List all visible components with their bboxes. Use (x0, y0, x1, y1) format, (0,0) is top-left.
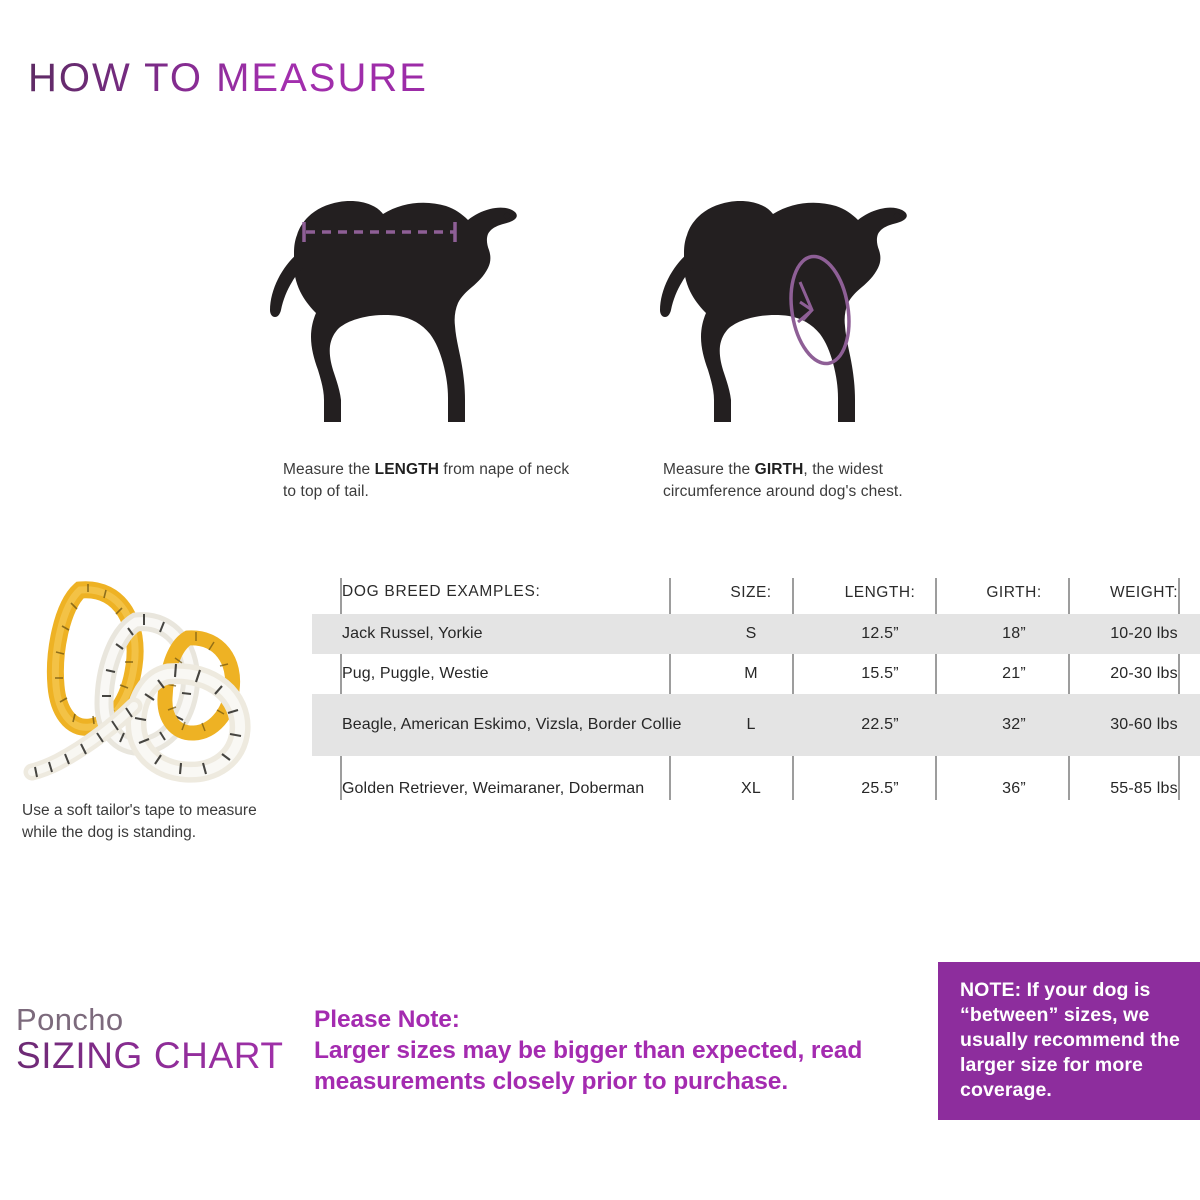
please-note-title: Please Note: (314, 1004, 914, 1035)
dog-silhouette-length-icon (250, 190, 570, 440)
please-note-body: Larger sizes may be bigger than expected… (314, 1035, 914, 1097)
please-note-block: Please Note: Larger sizes may be bigger … (314, 1004, 914, 1097)
row-size: XL (692, 756, 810, 822)
length-caption-keyword: LENGTH (375, 461, 439, 478)
length-illustration (250, 190, 570, 440)
row-breeds: Golden Retriever, Weimaraner, Doberman (312, 756, 692, 822)
table-header-row: DOG BREED EXAMPLES: SIZE: LENGTH: GIRTH:… (312, 574, 1200, 614)
table-header-girth: GIRTH: (950, 574, 1078, 614)
length-caption: Measure the LENGTH from nape of neck to … (283, 459, 573, 503)
row-length: 12.5” (810, 614, 950, 654)
length-caption-prefix: Measure the (283, 461, 375, 478)
girth-caption-keyword: GIRTH (755, 461, 804, 478)
row-breeds: Jack Russel, Yorkie (312, 614, 692, 654)
row-size: L (692, 694, 810, 756)
row-length: 15.5” (810, 654, 950, 694)
row-size: M (692, 654, 810, 694)
row-girth: 32” (950, 694, 1078, 756)
table-header-size: SIZE: (692, 574, 810, 614)
row-weight: 30-60 lbs (1078, 694, 1200, 756)
tape-measure-illustration (18, 578, 268, 783)
table-row: Pug, Puggle, Westie M 15.5” 21” 20-30 lb… (312, 654, 1200, 694)
table-header-length: LENGTH: (810, 574, 950, 614)
brand-sizing-chart-title: SIZING CHART (16, 1035, 306, 1078)
girth-caption-prefix: Measure the (663, 461, 755, 478)
tailor-tape-measure-icon (18, 578, 268, 783)
row-breeds: Pug, Puggle, Westie (312, 654, 692, 694)
row-weight: 55-85 lbs (1078, 756, 1200, 822)
row-girth: 21” (950, 654, 1078, 694)
row-breeds: Beagle, American Eskimo, Vizsla, Border … (312, 694, 692, 756)
note-callout-box: NOTE: If your dog is “between” sizes, we… (938, 962, 1200, 1120)
girth-illustration (640, 190, 960, 440)
table-row: Golden Retriever, Weimaraner, Doberman X… (312, 756, 1200, 822)
row-weight: 10-20 lbs (1078, 614, 1200, 654)
dog-silhouette-girth-icon (640, 190, 960, 440)
girth-caption: Measure the GIRTH, the widest circumfere… (663, 459, 963, 503)
row-girth: 36” (950, 756, 1078, 822)
table-row: Jack Russel, Yorkie S 12.5” 18” 10-20 lb… (312, 614, 1200, 654)
page-title: HOW TO MEASURE (28, 56, 428, 101)
table-header-breeds: DOG BREED EXAMPLES: (312, 574, 692, 614)
size-chart-table: DOG BREED EXAMPLES: SIZE: LENGTH: GIRTH:… (312, 574, 1200, 822)
row-girth: 18” (950, 614, 1078, 654)
row-size: S (692, 614, 810, 654)
brand-product-name: Poncho (16, 1004, 306, 1035)
brand-block: Poncho SIZING CHART (16, 1004, 306, 1078)
row-length: 25.5” (810, 756, 950, 822)
row-length: 22.5” (810, 694, 950, 756)
table-header-weight: WEIGHT: (1078, 574, 1200, 614)
row-weight: 20-30 lbs (1078, 654, 1200, 694)
tape-caption: Use a soft tailor's tape to measure whil… (22, 800, 282, 845)
note-callout-text: NOTE: If your dog is “between” sizes, we… (960, 978, 1188, 1103)
table-row: Beagle, American Eskimo, Vizsla, Border … (312, 694, 1200, 756)
